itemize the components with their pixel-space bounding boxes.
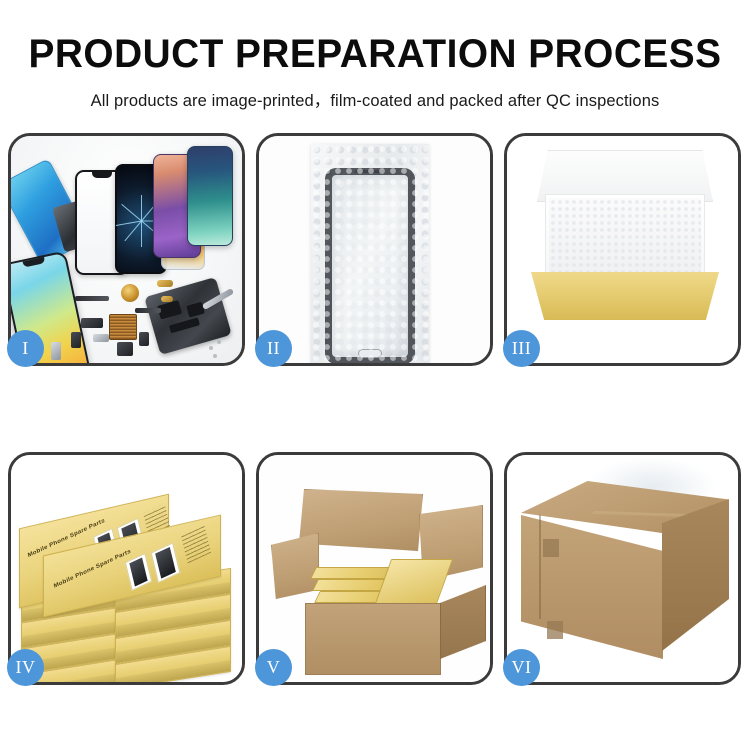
carton-side-face (662, 499, 729, 651)
step-2-image (259, 136, 490, 363)
step-1-image (11, 136, 242, 363)
page-title: PRODUCT PREPARATION PROCESS (11, 34, 739, 74)
button-part (139, 332, 149, 346)
step-badge-2: II (255, 330, 292, 367)
gold-connector-part (157, 280, 173, 287)
step-5-image (259, 455, 490, 682)
metal-bracket-part (93, 334, 109, 342)
camera-module-part (81, 318, 103, 328)
step-badge-4: IV (7, 649, 44, 686)
product-preparation-page: PRODUCT PREPARATION PROCESS All products… (0, 0, 750, 750)
foam-insert-icon (549, 198, 701, 274)
flex-cable-part (75, 296, 109, 301)
screw-part-2 (217, 340, 221, 344)
kraft-box-body-icon (531, 272, 719, 320)
box-print-phone-1 (125, 553, 152, 591)
open-carton-icon (269, 485, 485, 675)
step-badge-3: III (503, 330, 540, 367)
process-steps-grid: I II (8, 133, 742, 685)
step-panel-2: II (256, 133, 493, 366)
screw-part-3 (213, 354, 217, 358)
box-print-phone-2 (151, 542, 181, 583)
carton-tab-upper (543, 539, 559, 557)
step-badge-1: I (7, 330, 44, 367)
teal-phone-icon (187, 146, 233, 246)
home-button-icon (358, 349, 382, 358)
carton-front-face (305, 603, 441, 675)
carton-front-face (521, 515, 663, 659)
phone-screen-icon (325, 168, 415, 363)
small-module-part (71, 332, 81, 348)
step-3-image (507, 136, 738, 363)
gold-clip-part (161, 296, 173, 302)
ribbon-cable-part (135, 308, 161, 313)
box-stack-icon: Mobile Phone Spare Parts Mobile Phone Sp… (15, 473, 242, 679)
page-subtitle: All products are image-printed，film-coat… (0, 87, 750, 111)
step-panel-3: III (504, 133, 741, 366)
sim-tray-part (51, 342, 61, 360)
step-badge-6: VI (503, 649, 540, 686)
carton-seam (539, 515, 541, 620)
step-badge-5: V (255, 649, 292, 686)
bubble-wrap-sheet-icon (311, 144, 429, 363)
screw-part-1 (209, 346, 213, 350)
vibrator-part (117, 342, 133, 356)
step-panel-5: V (256, 452, 493, 685)
box-print-label: Mobile Phone Spare Parts (53, 549, 131, 590)
step-panel-4: Mobile Phone Spare Parts Mobile Phone Sp… (8, 452, 245, 685)
carton-tab-lower (547, 621, 563, 639)
box-print-spec-lines (181, 525, 211, 563)
step-panel-6: VI (504, 452, 741, 685)
sealed-carton-icon (521, 481, 729, 659)
speaker-coil-part (121, 284, 139, 302)
page-header: PRODUCT PREPARATION PROCESS All products… (0, 0, 750, 111)
carton-right-face (440, 585, 486, 659)
step-panel-1: I (8, 133, 245, 366)
step-6-image (507, 455, 738, 682)
mesh-chip-part (109, 314, 137, 340)
step-4-image: Mobile Phone Spare Parts Mobile Phone Sp… (11, 455, 242, 682)
